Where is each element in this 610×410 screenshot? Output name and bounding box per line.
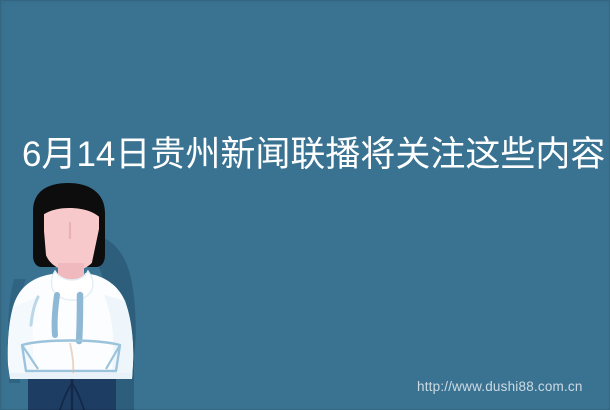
poster-canvas: 6月14日贵州新闻联播将关注这些内容 http://www.dushi88.co… [0, 0, 610, 410]
page-title: 6月14日贵州新闻联播将关注这些内容 [22, 133, 588, 177]
drawstring-right [79, 295, 80, 341]
drawstring-left [55, 295, 57, 335]
person-illustration [0, 183, 160, 410]
hoodie-hem [10, 373, 132, 379]
watermark-url: http://www.dushi88.com.cn [417, 378, 583, 396]
